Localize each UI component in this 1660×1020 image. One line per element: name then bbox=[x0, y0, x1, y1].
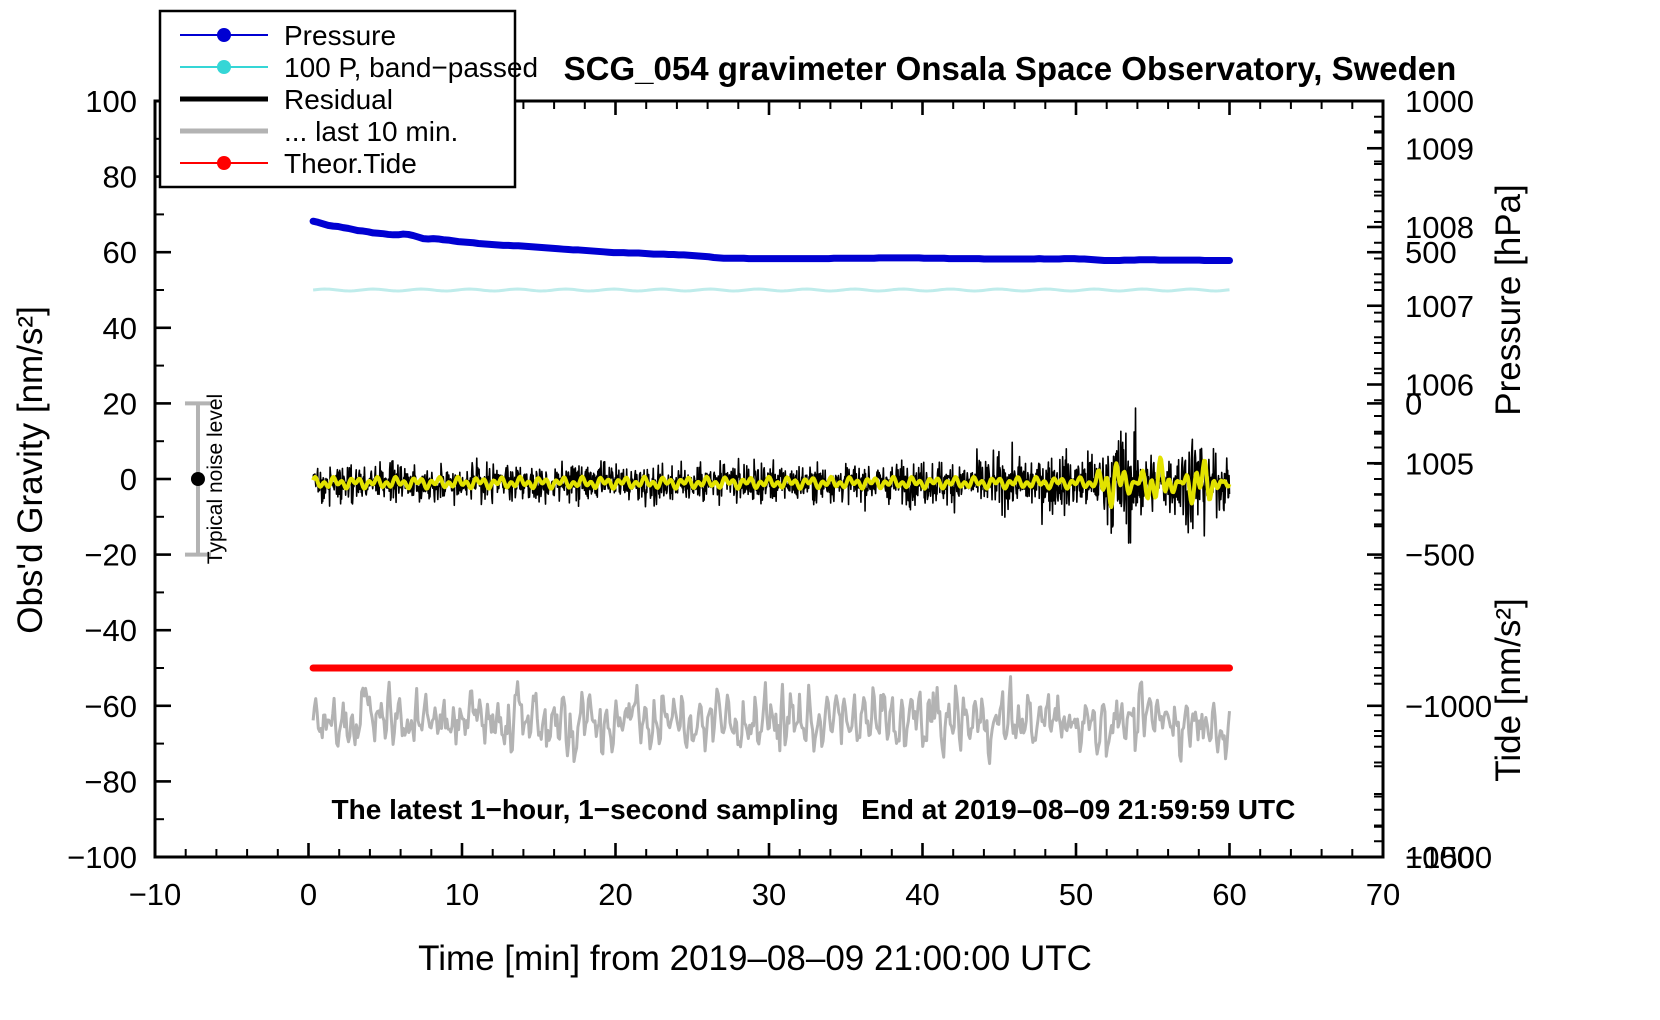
y-axis-label-left: Obs'd Gravity [nm/s²] bbox=[11, 306, 50, 634]
y-tick-label-left: 20 bbox=[103, 386, 137, 421]
y-tick-label-tide: −1500 bbox=[1405, 840, 1492, 875]
x-tick-label: 30 bbox=[752, 877, 786, 912]
noise-level-label: Typical noise level bbox=[204, 394, 227, 564]
end-time-note: End at 2019–08–09 21:59:59 UTC bbox=[861, 794, 1295, 825]
y-axis-label-tide: Tide [nm/s²] bbox=[1489, 598, 1528, 781]
x-tick-label: −10 bbox=[129, 877, 182, 912]
y-tick-label-left: 80 bbox=[103, 160, 137, 195]
y-tick-label-left: 100 bbox=[85, 84, 137, 119]
legend-swatch-marker bbox=[217, 156, 231, 170]
x-axis-label: Time [min] from 2019–08–09 21:00:00 UTC bbox=[418, 939, 1092, 978]
legend-label: Residual bbox=[284, 84, 393, 115]
y-tick-label-tide: −1000 bbox=[1405, 689, 1492, 724]
y-tick-label-pressure: 1009 bbox=[1405, 131, 1474, 166]
legend-swatch-marker bbox=[217, 60, 231, 74]
y-tick-label-left: 0 bbox=[120, 462, 137, 497]
legend-swatch-marker bbox=[217, 28, 231, 42]
y-tick-label-tide: 0 bbox=[1405, 386, 1422, 421]
y-tick-label-tide: −500 bbox=[1405, 538, 1475, 573]
y-tick-label-left: −20 bbox=[84, 538, 137, 573]
x-tick-label: 70 bbox=[1366, 877, 1400, 912]
y-tick-label-pressure: 1007 bbox=[1405, 289, 1474, 324]
y-tick-label-tide: 500 bbox=[1405, 235, 1457, 270]
x-tick-label: 40 bbox=[905, 877, 939, 912]
legend-label: 100 P, band−passed bbox=[284, 52, 538, 83]
x-tick-label: 0 bbox=[300, 877, 317, 912]
y-tick-label-left: −100 bbox=[67, 840, 137, 875]
x-tick-label: 50 bbox=[1059, 877, 1093, 912]
x-tick-label: 10 bbox=[445, 877, 479, 912]
chart-page: −10010203040506070−100−80−60−40−20020406… bbox=[0, 0, 1660, 1020]
y-tick-label-left: −60 bbox=[84, 689, 137, 724]
x-tick-label: 60 bbox=[1212, 877, 1246, 912]
noise-bar-center-dot bbox=[191, 472, 205, 486]
sampling-note: The latest 1−hour, 1−second sampling bbox=[332, 794, 839, 825]
legend-label: Theor.Tide bbox=[284, 148, 417, 179]
y-axis-label-pressure: Pressure [hPa] bbox=[1489, 184, 1528, 416]
y-tick-label-left: 60 bbox=[103, 235, 137, 270]
y-tick-label-left: −80 bbox=[84, 764, 137, 799]
legend-label: Pressure bbox=[284, 20, 396, 51]
chart-title: SCG_054 gravimeter Onsala Space Observat… bbox=[564, 50, 1457, 87]
y-tick-label-tide: 1000 bbox=[1405, 84, 1474, 119]
y-tick-label-left: −40 bbox=[84, 613, 137, 648]
gravimeter-chart: −10010203040506070−100−80−60−40−20020406… bbox=[0, 0, 1660, 1020]
y-tick-label-pressure: 1005 bbox=[1405, 446, 1474, 481]
x-tick-label: 20 bbox=[598, 877, 632, 912]
legend-label: ... last 10 min. bbox=[284, 116, 458, 147]
y-tick-label-left: 40 bbox=[103, 311, 137, 346]
chart-legend[interactable]: Pressure100 P, band−passedResidual... la… bbox=[160, 11, 538, 187]
